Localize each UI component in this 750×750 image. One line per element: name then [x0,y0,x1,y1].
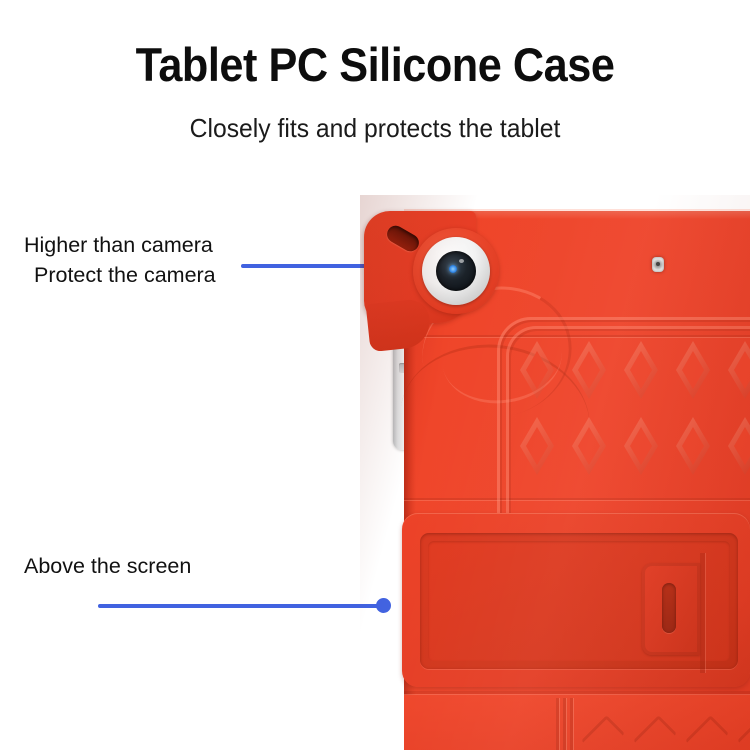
microphone-pinhole [652,257,664,272]
diamond-emboss [624,417,658,475]
kickstand-latch-edge [700,553,705,673]
diamond-emboss [572,341,606,399]
camera-lens-highlight [459,259,464,263]
camera-lens-glint [449,265,457,273]
product-photo [360,195,750,750]
diamond-emboss [728,417,750,475]
diamond-emboss [520,417,554,475]
product-marketing-image: Tablet PC Silicone Case Closely fits and… [0,0,750,750]
bottom-groove [563,698,566,750]
bottom-groove [570,698,573,750]
callout-screen-leader-line [98,604,385,608]
embossed-diamond-pattern [520,341,750,501]
bottom-groove [556,698,559,750]
diamond-emboss [676,417,710,475]
callout-screen-label: Above the screen [24,552,191,582]
kickstand-latch-slot [662,583,676,633]
diamond-emboss [624,341,658,399]
page-title: Tablet PC Silicone Case [30,40,720,89]
callout-camera-line1: Higher than camera [24,233,213,257]
diamond-emboss [572,417,606,475]
diamond-emboss [520,341,554,399]
diamond-emboss [728,341,750,399]
page-subtitle: Closely fits and protects the tablet [19,113,732,144]
callout-camera-line2: Protect the camera [24,261,216,291]
diamond-emboss [676,341,710,399]
case-seam-bottom [404,691,750,694]
callout-camera-label: Higher than camera Protect the camera [24,231,216,290]
